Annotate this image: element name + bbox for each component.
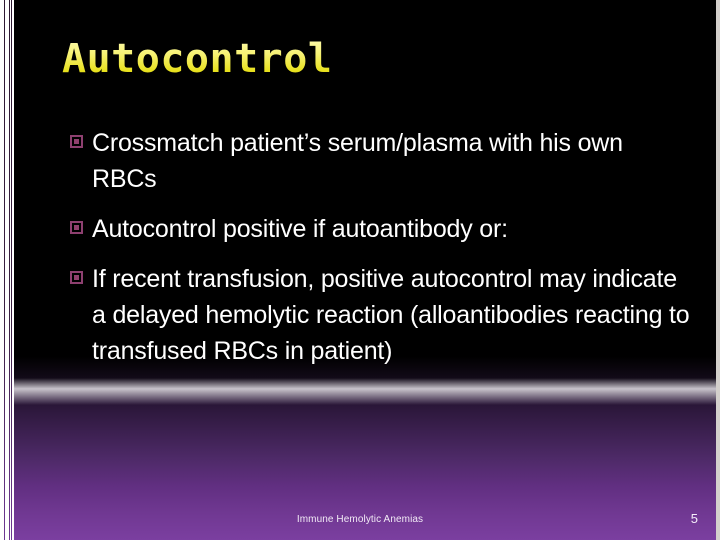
left-border-rule-1 <box>4 0 5 540</box>
footer-deck-title: Immune Hemolytic Anemias <box>0 514 720 525</box>
slide-title: Autocontrol <box>62 38 332 80</box>
square-bullet-icon <box>70 135 83 148</box>
right-border-edge <box>716 0 720 540</box>
list-item: If recent transfusion, positive autocont… <box>70 261 690 369</box>
square-bullet-icon <box>70 221 83 234</box>
list-item: Autocontrol positive if autoantibody or: <box>70 211 690 247</box>
bullet-list: Crossmatch patient’s serum/plasma with h… <box>70 125 690 369</box>
list-item-text: Autocontrol positive if autoantibody or: <box>92 211 690 247</box>
slide: Autocontrol Crossmatch patient’s serum/p… <box>0 0 720 540</box>
left-border-rule-3 <box>11 0 12 540</box>
list-item: Crossmatch patient’s serum/plasma with h… <box>70 125 690 197</box>
left-border-rule-2 <box>9 0 10 540</box>
list-item-text: Crossmatch patient’s serum/plasma with h… <box>92 125 690 197</box>
footer-page-number: 5 <box>691 511 698 526</box>
list-item-text: If recent transfusion, positive autocont… <box>92 261 690 369</box>
square-bullet-icon <box>70 271 83 284</box>
